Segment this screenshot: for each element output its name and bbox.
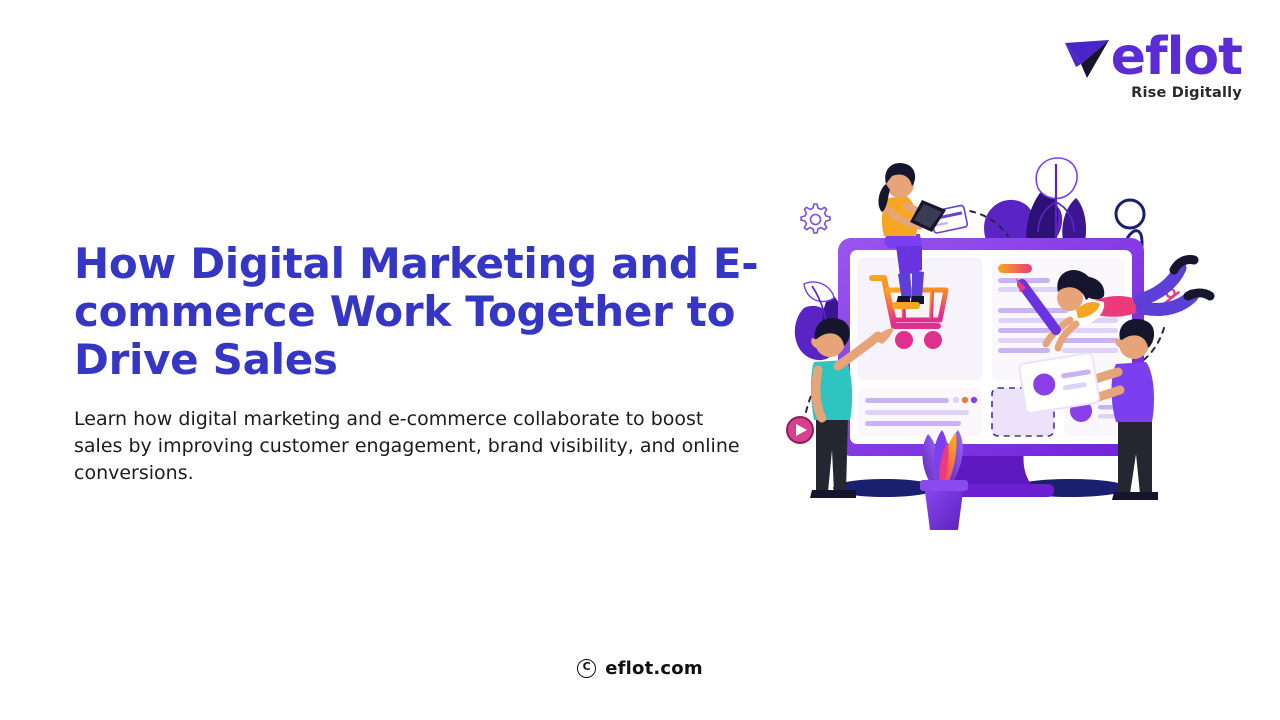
- logo-tagline: Rise Digitally: [1063, 86, 1242, 101]
- footer-site[interactable]: eflot.com: [605, 658, 703, 679]
- paper-plane-icon: [1063, 34, 1115, 80]
- potted-plant-icon: [920, 430, 968, 530]
- page-title: How Digital Marketing and E-commerce Wor…: [74, 240, 764, 384]
- logo-wordmark: eflot: [1111, 34, 1242, 80]
- logo-row: eflot: [1063, 34, 1242, 80]
- gear-icon: [801, 204, 830, 233]
- monitor[interactable]: [838, 238, 1144, 456]
- hero-illustration: [770, 150, 1220, 560]
- hero-subcopy: Learn how digital marketing and e-commer…: [74, 406, 746, 487]
- play-button-icon: [787, 417, 813, 443]
- footer: C eflot.com: [0, 658, 1280, 679]
- brand-logo[interactable]: eflot Rise Digitally: [1063, 34, 1242, 101]
- copyright-icon: C: [577, 659, 596, 678]
- hero-copy: How Digital Marketing and E-commerce Wor…: [74, 240, 764, 487]
- floating-card: [1019, 353, 1100, 414]
